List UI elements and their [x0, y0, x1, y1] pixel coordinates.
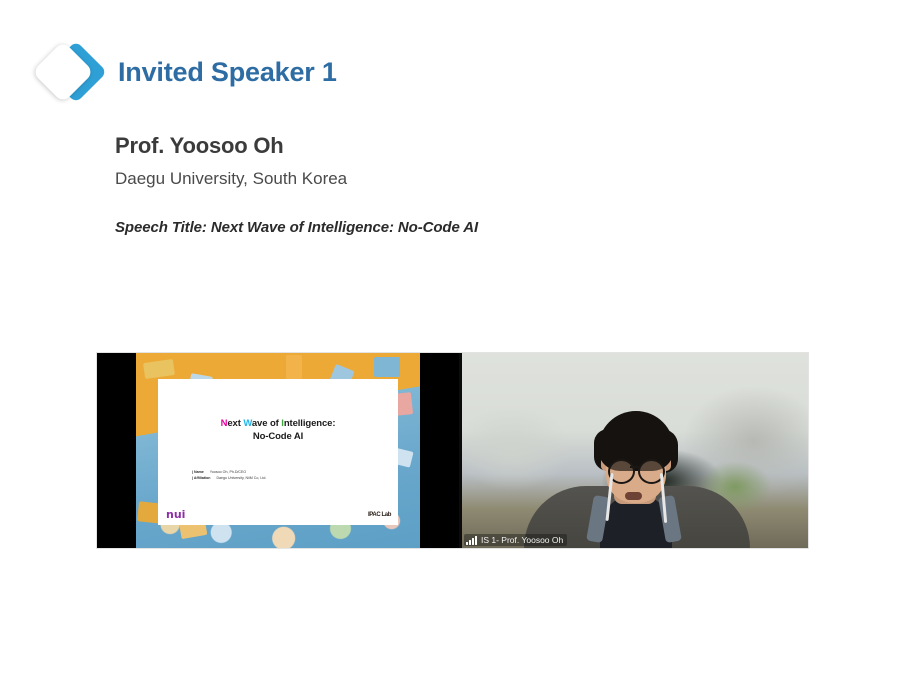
- ipac-lab-logo-icon: IPAC Lab: [368, 512, 391, 519]
- shared-screen-pane: Next Wave of Intelligence: No-Code AI | …: [97, 353, 459, 548]
- nui-logo-icon: nui: [166, 509, 185, 520]
- slide-title-seg-3: ntelligence:: [284, 418, 336, 429]
- background-blur-blob: [462, 405, 572, 491]
- speaker-mouth: [625, 492, 642, 500]
- speech-title: Speech Title: Next Wave of Intelligence:…: [115, 219, 815, 236]
- recording-capture: Next Wave of Intelligence: No-Code AI | …: [97, 353, 808, 548]
- eyeglasses-bridge: [630, 466, 639, 468]
- slide-title-seg-1: ext: [227, 418, 243, 429]
- speaker-name: Prof. Yoosoo Oh: [115, 133, 815, 159]
- webcam-pane: IS 1- Prof. Yoosoo Oh: [462, 353, 808, 548]
- slide-title: Next Wave of Intelligence: No-Code AI: [158, 417, 398, 443]
- participant-name-label: IS 1- Prof. Yoosoo Oh: [464, 534, 567, 546]
- slide-title-line2: No-Code AI: [253, 431, 303, 442]
- slide-meta-block: | NameYoosoo Oh, Ph.D/CEO | AffiliationD…: [192, 469, 266, 481]
- speaker-info-block: Prof. Yoosoo Oh Daegu University, South …: [115, 133, 815, 236]
- slide-title-char-w: W: [243, 418, 252, 429]
- speaker-affiliation: Daegu University, South Korea: [115, 169, 815, 189]
- slide-meta-key: | Name: [192, 470, 204, 474]
- signal-bars-icon: [466, 536, 477, 545]
- slide-meta-key: | Affiliation: [192, 476, 210, 480]
- participant-name-text: IS 1- Prof. Yoosoo Oh: [481, 535, 563, 545]
- slide-title-seg-2: ave of: [252, 418, 281, 429]
- presentation-slide: Next Wave of Intelligence: No-Code AI | …: [158, 379, 398, 525]
- slide-header: Invited Speaker 1: [0, 0, 912, 130]
- lego-brick: [374, 357, 400, 377]
- diamond-logo-icon: [32, 44, 106, 110]
- lego-brick: [143, 359, 175, 379]
- slide-meta-value: Daegu University, NiiM Co, Ltd.: [216, 476, 266, 480]
- slide-meta-value: Yoosoo Oh, Ph.D/CEO: [210, 470, 246, 474]
- slide-meta-row: | AffiliationDaegu University, NiiM Co, …: [192, 475, 266, 481]
- page-title: Invited Speaker 1: [118, 57, 337, 88]
